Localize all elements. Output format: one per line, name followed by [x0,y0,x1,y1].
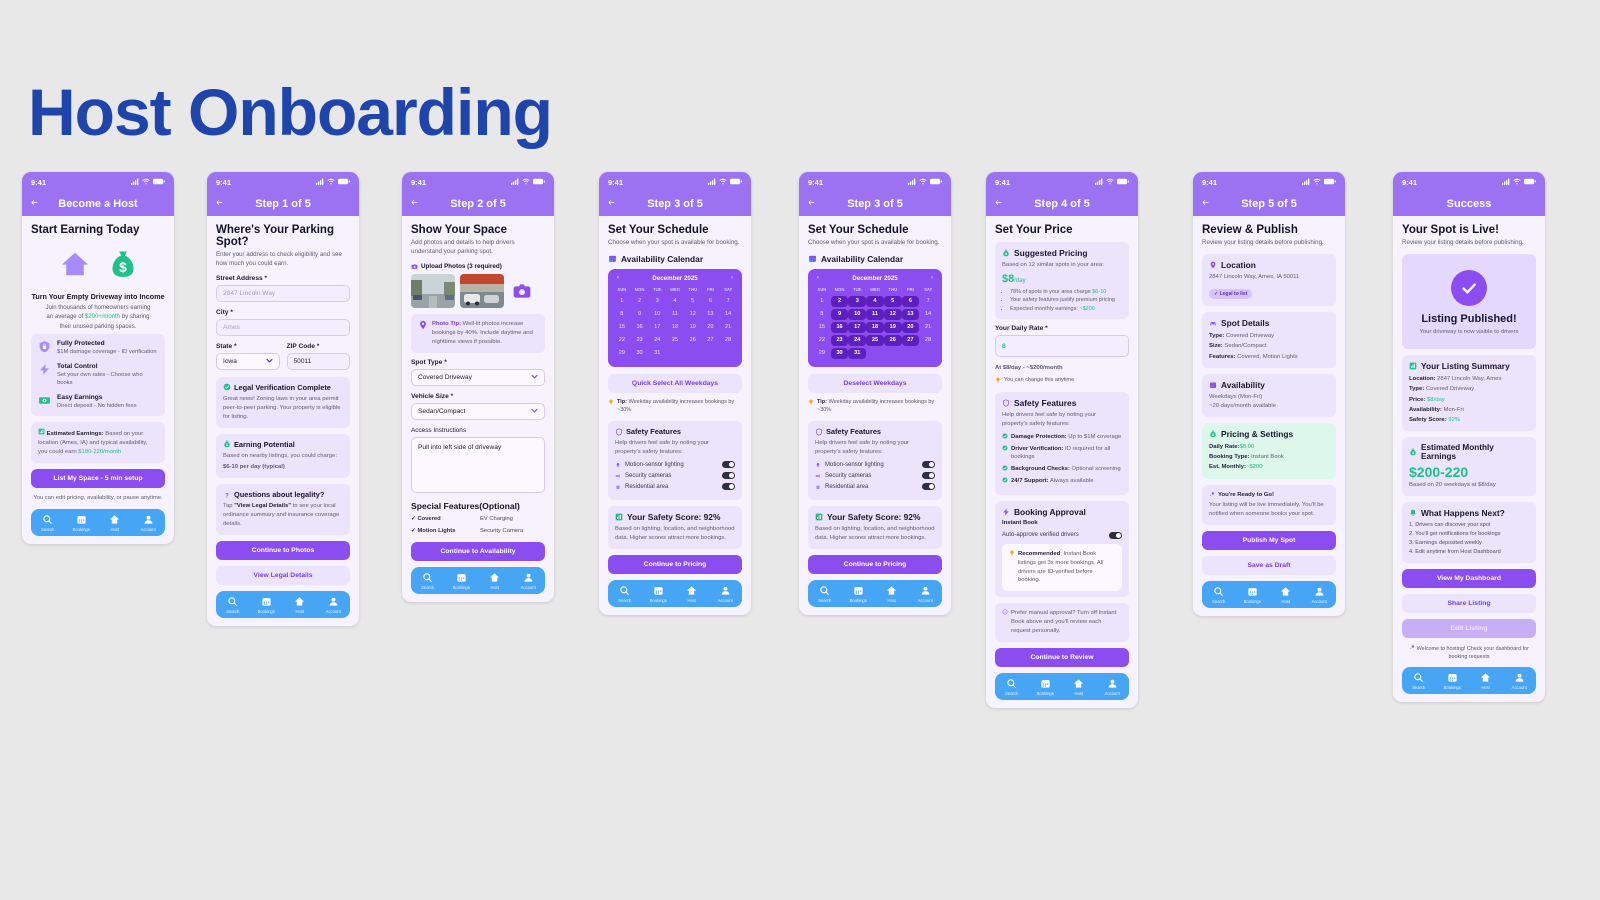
benefit-item: Total ControlSet your own rates - Choose… [38,363,158,387]
phone-screen-become-a-host: 9:41Become a HostStart Earning Today$Tur… [22,172,174,544]
tab-bookings[interactable]: Bookings [65,514,99,532]
photo-tip-label: Photo Tip: [432,321,461,327]
status-bar: 9:41 [1193,172,1345,192]
account-icon [920,585,931,596]
tab-host[interactable]: Host [478,572,512,590]
calendar-day-selected[interactable]: 30 [831,348,849,359]
special-features-heading: Special Features(Optional) [411,501,545,511]
pricing-settings-card: $Pricing & SettingsDaily Rate:$8.00Booki… [1202,423,1336,479]
bottom-tab-bar[interactable]: SearchBookingsHostAccount [216,591,350,618]
nav-title: Step 3 of 5 [599,198,751,210]
shield-icon [815,428,823,436]
calendar-day-selected[interactable]: 23 [831,335,849,346]
check-circle-icon [1002,433,1008,439]
check-circle-large-icon [1458,277,1480,299]
tab-label: Account [1512,685,1527,690]
calendar-day-selected[interactable]: 2 [831,296,849,307]
status-bar: 9:41 [799,172,951,192]
instant-book-label: Auto-approve verified drivers [1002,532,1079,538]
status-bar: 9:41 [207,172,359,192]
tab-label: Host [887,598,896,603]
tab-label: Search [1005,691,1018,696]
page-sub: Choose when your spot is available for b… [808,239,942,248]
tab-search[interactable]: Search [995,678,1029,696]
pricing-kv: Booking Type: Instant Book [1209,452,1329,462]
tab-label: Host [490,585,499,590]
wifi-icon [327,178,335,187]
bottom-tab-bar[interactable]: SearchBookingsHostAccount [31,509,165,536]
chart-icon [615,513,623,521]
calendar-day-selected[interactable]: 3 [848,296,866,307]
calendar-icon [1247,586,1258,597]
status-bar: 9:41 [22,172,174,192]
earning-potential-card: $Earning PotentialBased on nearby listin… [216,434,350,479]
bottom-tab-bar[interactable]: SearchBookingsHostAccount [608,580,742,607]
calendar-weekday: FRI [702,287,720,294]
vehicle-size-select[interactable]: Sedan/Compact [411,403,545,420]
tab-label: Bookings [650,598,667,603]
calendar-day-selected[interactable]: 13 [902,309,920,320]
view-my-dashboard-button[interactable]: View My Dashboard [1402,569,1536,588]
safety-score-text: Based on lighting, location, and neighbo… [615,525,735,543]
tab-host[interactable]: Host [98,514,132,532]
rate-note: You can change this anytime [995,377,1129,385]
safety-toggle-row[interactable]: Residential area [615,483,735,490]
calendar-day[interactable]: 28 [919,335,937,346]
weekday-select-button[interactable]: Quick Select All Weekdays [608,374,742,393]
calendar-day-selected[interactable]: 10 [848,309,866,320]
tab-label: Search [226,609,239,614]
review-kv: Size: Sedan/Compact [1209,341,1329,351]
next-step-item: 3. Earnings deposited weekly [1409,539,1529,548]
continue-to-photos-button[interactable]: Continue to Photos [216,541,350,560]
signal-icon [1302,178,1310,187]
tab-search[interactable]: Search [216,596,250,614]
phone-screen-step-4: 9:41Step 4 of 5Set Your Price$Suggested … [986,172,1138,708]
calendar-day-selected[interactable]: 27 [902,335,920,346]
share-listing-button[interactable]: Share Listing [1402,594,1536,613]
shield-lock-icon [38,340,51,353]
calendar-month: December 2025 [652,275,697,282]
safety-toggle-label: Security cameras [825,473,871,479]
calendar-day[interactable]: 14 [919,309,937,320]
weekday-select-button[interactable]: Deselect Weekdays [808,374,942,393]
calendar-day[interactable]: 22 [813,335,831,346]
benefits-card: Fully Protected$1M damage coverage - ID … [31,334,165,416]
calendar-prev-button[interactable]: ‹ [817,275,819,281]
svg-text:$: $ [1212,432,1214,436]
calendar-day[interactable]: 30 [631,348,649,359]
safety-toggle-label: Motion-sensor lighting [625,462,684,468]
bulb-icon [808,399,814,405]
home-icon [1280,586,1291,597]
summary-kv: Safety Score: 92% [1409,415,1529,425]
tab-label: Bookings [850,598,867,603]
recommended-note: Recommended: Instant Book listings get 3… [1002,544,1122,591]
money-bag-icon: $ [1002,249,1010,257]
calendar-day[interactable]: 17 [648,322,666,333]
tab-account[interactable]: Account [1303,586,1337,604]
instant-book-toggle-row[interactable]: Auto-approve verified drivers [1002,532,1122,539]
calendar-day[interactable]: 29 [613,348,631,359]
chart-icon [38,428,45,435]
calendar-day-selected[interactable]: 12 [884,309,902,320]
spot-type-select[interactable]: Covered Driveway [411,369,545,386]
rate-note-text: You can change this anytime [1004,377,1074,385]
bottom-tab-bar[interactable]: SearchBookingsHostAccount [1202,581,1336,608]
money-bag-icon: $ [1209,430,1217,438]
bottom-tab-bar[interactable]: SearchBookingsHostAccount [1402,667,1536,694]
calendar-icon [456,572,467,583]
estimated-earnings-card: $Estimated Monthly Earnings$200-220Based… [1402,437,1536,496]
tab-account[interactable]: Account [1503,672,1537,690]
calendar-day[interactable]: 12 [684,309,702,320]
suggested-pricing-sub: Based on 12 similar spots in your area: [1002,261,1122,270]
calendar-day-selected[interactable]: 26 [884,335,902,346]
tab-host[interactable]: Host [283,596,317,614]
phone-screen-step-3a: 9:41Step 3 of 5Set Your ScheduleChoose w… [599,172,751,615]
check-circle-icon [223,383,231,391]
calendar-day-selected[interactable]: 17 [848,322,866,333]
calendar-day[interactable]: 15 [613,322,631,333]
phone-screen-step-5: 9:41Step 5 of 5Review & PublishReview yo… [1193,172,1345,616]
calendar-day[interactable]: 10 [648,309,666,320]
tab-bookings[interactable]: Bookings [1029,678,1063,696]
calendar-day-selected[interactable]: 9 [831,309,849,320]
bottom-tab-bar[interactable]: SearchBookingsHostAccount [995,673,1129,700]
tab-label: Bookings [258,609,275,614]
svg-text:$: $ [1412,451,1414,455]
search-icon [227,596,238,607]
calendar-day-selected[interactable]: 6 [902,296,920,307]
tab-search[interactable]: Search [608,585,642,603]
tab-bookings[interactable]: Bookings [842,585,876,603]
tab-label: Host [1481,685,1490,690]
continue-to-availability-button[interactable]: Continue to Availability [411,542,545,561]
search-icon [819,585,830,596]
light-icon [815,462,821,468]
status-time: 9:41 [411,178,426,187]
tab-search[interactable]: Search [1202,586,1236,604]
edit-listing-button[interactable]: Edit Listing [1402,619,1536,638]
calendar-weekday: WED [666,287,684,294]
tab-label: Bookings [1444,685,1461,690]
listing-summary-heading: Your Listing Summary [1409,361,1529,371]
calendar-next-button[interactable]: › [731,275,733,281]
tab-account[interactable]: Account [709,585,743,603]
benefit-title: Easy Earnings [57,394,137,401]
toggle-switch[interactable] [922,483,935,490]
safety-score-text: Based on lighting, location, and neighbo… [815,525,935,543]
calendar-day[interactable]: 8 [813,309,831,320]
page-heading: Review & Publish [1202,224,1336,236]
summary-kv: Price: $8/day [1409,395,1529,405]
pin-icon [418,320,428,330]
estimated-earnings-amount: $200-220 [1409,464,1529,481]
battery-icon [533,178,545,187]
calendar-day[interactable]: 15 [813,322,831,333]
daily-rate-input[interactable]: 8 [995,335,1129,357]
toggle-switch[interactable] [922,461,935,468]
wifi-icon [919,178,927,187]
svg-text:$: $ [119,260,127,275]
benefit-item: Easy EarningsDirect deposit - No hidden … [38,394,158,410]
phone-screen-success: 9:41SuccessYour Spot is Live!Review your… [1393,172,1545,702]
bulb-icon [1009,550,1015,556]
availability-calendar-heading: Availability Calendar [808,254,942,264]
calendar-day[interactable]: 25 [666,335,684,346]
earning-potential-body: Based on nearby listings, you could char… [223,452,343,461]
publish-my-spot-button[interactable]: Publish My Spot [1202,531,1336,550]
tab-label: Search [618,598,631,603]
save-as-draft-button[interactable]: Save as Draft [1202,556,1336,575]
safety-score-card: Your Safety Score: 92%Based on lighting,… [808,506,942,549]
status-time: 9:41 [216,178,231,187]
pricing-kv: Daily Rate:$8.00 [1209,442,1329,452]
money-bag-illustration-icon: $ [108,249,138,284]
search-icon [619,585,630,596]
toggle-switch[interactable] [1109,532,1122,539]
tab-account[interactable]: Account [909,585,943,603]
calendar-day-selected[interactable]: 18 [866,322,884,333]
tab-bookings[interactable]: Bookings [250,596,284,614]
calendar-day[interactable]: 13 [702,309,720,320]
calendar-day-selected[interactable]: 11 [866,309,884,320]
pin-icon [1209,261,1217,269]
zip-input[interactable]: 50011 [287,353,351,370]
calendar-day-selected[interactable]: 31 [848,348,866,359]
tab-account[interactable]: Account [317,596,351,614]
tab-search[interactable]: Search [411,572,445,590]
search-icon [1213,586,1224,597]
special-features-list[interactable]: ✓ CoveredEV Charging✓ Motion LightsSecur… [411,516,545,534]
calendar-day[interactable]: 24 [648,335,666,346]
home-icon [1073,678,1084,689]
what-happens-next-card: What Happens Next?1. Drivers can discove… [1402,502,1536,563]
calendar-day[interactable]: 3 [648,296,666,307]
toggle-switch[interactable] [922,472,935,479]
pricing-bullet: 78% of spots in your area charge $6-10 [1010,288,1122,297]
safety-toggle-row[interactable]: Motion-sensor lighting [615,461,735,468]
calendar-day[interactable]: 23 [631,335,649,346]
svg-text:$: $ [226,443,228,447]
home-icon [686,585,697,596]
tab-account[interactable]: Account [1096,678,1130,696]
special-feature-item[interactable]: Security Camera [480,528,545,534]
search-icon [42,514,53,525]
zip-label: ZIP Code * [287,343,351,350]
tab-search[interactable]: Search [31,514,65,532]
calendar-day-selected[interactable]: 4 [866,296,884,307]
street-address-input[interactable]: 2847 Lincoln Way [216,285,350,302]
tab-label: Bookings [73,527,90,532]
review-section-card: Spot DetailsType: Covered DrivewaySize: … [1202,312,1336,368]
safety-toggle-row[interactable]: Motion-sensor lighting [815,461,935,468]
calendar-day[interactable]: 6 [702,296,720,307]
signal-icon [316,178,324,187]
home-icon [294,596,305,607]
calendar-icon [1209,381,1217,389]
safety-toggle-row[interactable]: Security cameras [615,472,735,479]
ready-to-go-heading: You're Ready to Go! [1218,491,1274,500]
phone-screen-step-3b: 9:41Step 3 of 5Set Your ScheduleChoose w… [799,172,951,615]
page-heading: Start Earning Today [31,224,165,236]
continue-to-pricing-button[interactable]: Continue to Pricing [808,555,942,574]
continue-to-review-button[interactable]: Continue to Review [995,648,1129,667]
calendar-day[interactable]: 21 [719,322,737,333]
chart-icon [1409,362,1417,370]
booking-mode: Instant Book [1002,519,1122,528]
calendar-day-selected[interactable]: 16 [831,322,849,333]
calendar-day[interactable]: 1 [813,296,831,307]
calendar-day-selected[interactable]: 20 [902,322,920,333]
continue-to-pricing-button[interactable]: Continue to Pricing [608,555,742,574]
pricing-kv: Est. Monthly:~$200 [1209,462,1329,472]
list-my-space-button[interactable]: List My Space - 5 min setup [31,469,165,488]
tab-search[interactable]: Search [808,585,842,603]
toggle-switch[interactable] [722,472,735,479]
battery-icon [1117,178,1129,187]
safety-toggle-row[interactable]: Security cameras [815,472,935,479]
pricing-settings-heading: $Pricing & Settings [1209,429,1329,439]
camera-small-icon [615,473,621,479]
safety-features-heading: Safety Features [1002,398,1122,408]
calendar-icon [653,585,664,596]
svg-text:?: ? [225,493,229,499]
house-small-icon [815,484,821,490]
calendar-weekday: MON [831,287,849,294]
calendar-day[interactable]: 8 [613,309,631,320]
calendar-day[interactable]: 19 [684,322,702,333]
calendar-icon [808,254,817,263]
calendar-day-selected[interactable]: 25 [866,335,884,346]
city-input[interactable]: Ames [216,319,350,336]
tab-host[interactable]: Host [675,585,709,603]
calendar-day-selected[interactable]: 5 [884,296,902,307]
calendar-day[interactable]: 22 [613,335,631,346]
add-photo-button[interactable] [509,278,535,304]
tab-label: Search [818,598,831,603]
availability-tip-text: Weekday availability increases bookings … [817,399,934,413]
tab-label: Search [1412,685,1425,690]
tab-account[interactable]: Account [132,514,166,532]
success-check-badge [1451,270,1487,306]
calendar-day[interactable]: 20 [702,322,720,333]
calendar-day[interactable]: 16 [631,322,649,333]
bottom-tab-bar[interactable]: SearchBookingsHostAccount [411,567,545,594]
account-icon [1314,586,1325,597]
toggle-switch[interactable] [722,483,735,490]
bulb-icon [608,399,614,405]
calendar-day[interactable]: 29 [813,348,831,359]
availability-calendar[interactable]: ‹December 2025›SUNMONTUEWEDTHUFRISAT1234… [608,269,742,367]
access-instructions-textarea[interactable]: Pull into left side of driveway [411,437,545,493]
safety-toggle-label: Motion-sensor lighting [825,462,884,468]
tab-host[interactable]: Host [1269,586,1303,604]
calendar-day[interactable]: 9 [631,309,649,320]
rocket-icon [1409,644,1415,650]
view-legal-details-button[interactable]: View Legal Details [216,566,350,585]
tab-search[interactable]: Search [1402,672,1436,690]
state-select[interactable]: Iowa [216,353,280,370]
availability-calendar[interactable]: ‹December 2025›SUNMONTUEWEDTHUFRISAT1234… [808,269,942,367]
photo-thumbnail[interactable] [411,274,455,308]
calendar-prev-button[interactable]: ‹ [617,275,619,281]
calendar-day[interactable]: 7 [919,296,937,307]
calendar-day[interactable]: 31 [648,348,666,359]
check-circle-icon [1002,477,1008,483]
tab-host[interactable]: Host [1062,678,1096,696]
special-feature-item[interactable]: ✓ Covered [411,516,476,522]
money-bag-icon: $ [1409,448,1417,456]
tab-bookings[interactable]: Bookings [1436,672,1470,690]
tab-label: Bookings [453,585,470,590]
legal-verification-card: Legal Verification CompleteGreat news! Z… [216,377,350,428]
ready-to-go-text: Your listing will be live immediately. Y… [1209,501,1329,519]
wifi-icon [1513,178,1521,187]
chevron-down-icon [531,374,538,381]
safety-features-card: Safety FeaturesHelp drivers feel safe by… [808,421,942,500]
tab-bookings[interactable]: Bookings [1236,586,1270,604]
tab-bookings[interactable]: Bookings [642,585,676,603]
chart-icon [815,513,823,521]
calendar-day[interactable]: 21 [919,322,937,333]
calendar-day-selected[interactable]: 24 [848,335,866,346]
photo-thumbnails[interactable] [411,274,545,308]
calendar-icon [261,596,272,607]
calendar-day[interactable]: 2 [631,296,649,307]
calendar-day[interactable]: 28 [719,335,737,346]
tab-label: Search [421,585,434,590]
bottom-tab-bar[interactable]: SearchBookingsHostAccount [808,580,942,607]
calendar-day[interactable]: 4 [666,296,684,307]
calendar-weekday: FRI [902,287,920,294]
city-label: City * [216,309,350,316]
calendar-day[interactable]: 14 [719,309,737,320]
calendar-next-button[interactable]: › [931,275,933,281]
nav-bar: Step 3 of 5 [799,192,951,216]
nav-bar: Success [1393,192,1545,216]
calendar-day[interactable]: 26 [684,335,702,346]
phone-screen-step-2: 9:41Step 2 of 5Show Your SpaceAdd photos… [402,172,554,602]
tab-host[interactable]: Host [1469,672,1503,690]
estimated-earnings-card: Estimated Earnings: Based on your locati… [31,422,165,463]
tab-host[interactable]: Host [875,585,909,603]
street-address-label: Street Address * [216,275,350,282]
calendar-day[interactable]: 18 [666,322,684,333]
page-heading: Set Your Schedule [608,224,742,236]
safety-toggle-row[interactable]: Residential area [815,483,935,490]
special-feature-item[interactable]: ✓ Motion Lights [411,528,476,534]
calendar-day-selected[interactable]: 19 [884,322,902,333]
calendar-day[interactable]: 7 [719,296,737,307]
review-section-card: Location2847 Lincoln Way, Ames, IA 50011… [1202,254,1336,306]
search-icon [422,572,433,583]
calendar-day[interactable]: 1 [613,296,631,307]
bulb-icon [995,377,1001,383]
toggle-switch[interactable] [722,461,735,468]
calendar-day[interactable]: 11 [666,309,684,320]
calendar-day[interactable]: 27 [702,335,720,346]
tab-account[interactable]: Account [512,572,546,590]
calendar-day[interactable]: 5 [684,296,702,307]
photo-thumbnail[interactable] [460,274,504,308]
special-feature-item[interactable]: EV Charging [480,516,545,522]
wifi-icon [1106,178,1114,187]
review-section-heading: Availability [1209,380,1329,390]
tab-bookings[interactable]: Bookings [445,572,479,590]
calendar-weekday: WED [866,287,884,294]
